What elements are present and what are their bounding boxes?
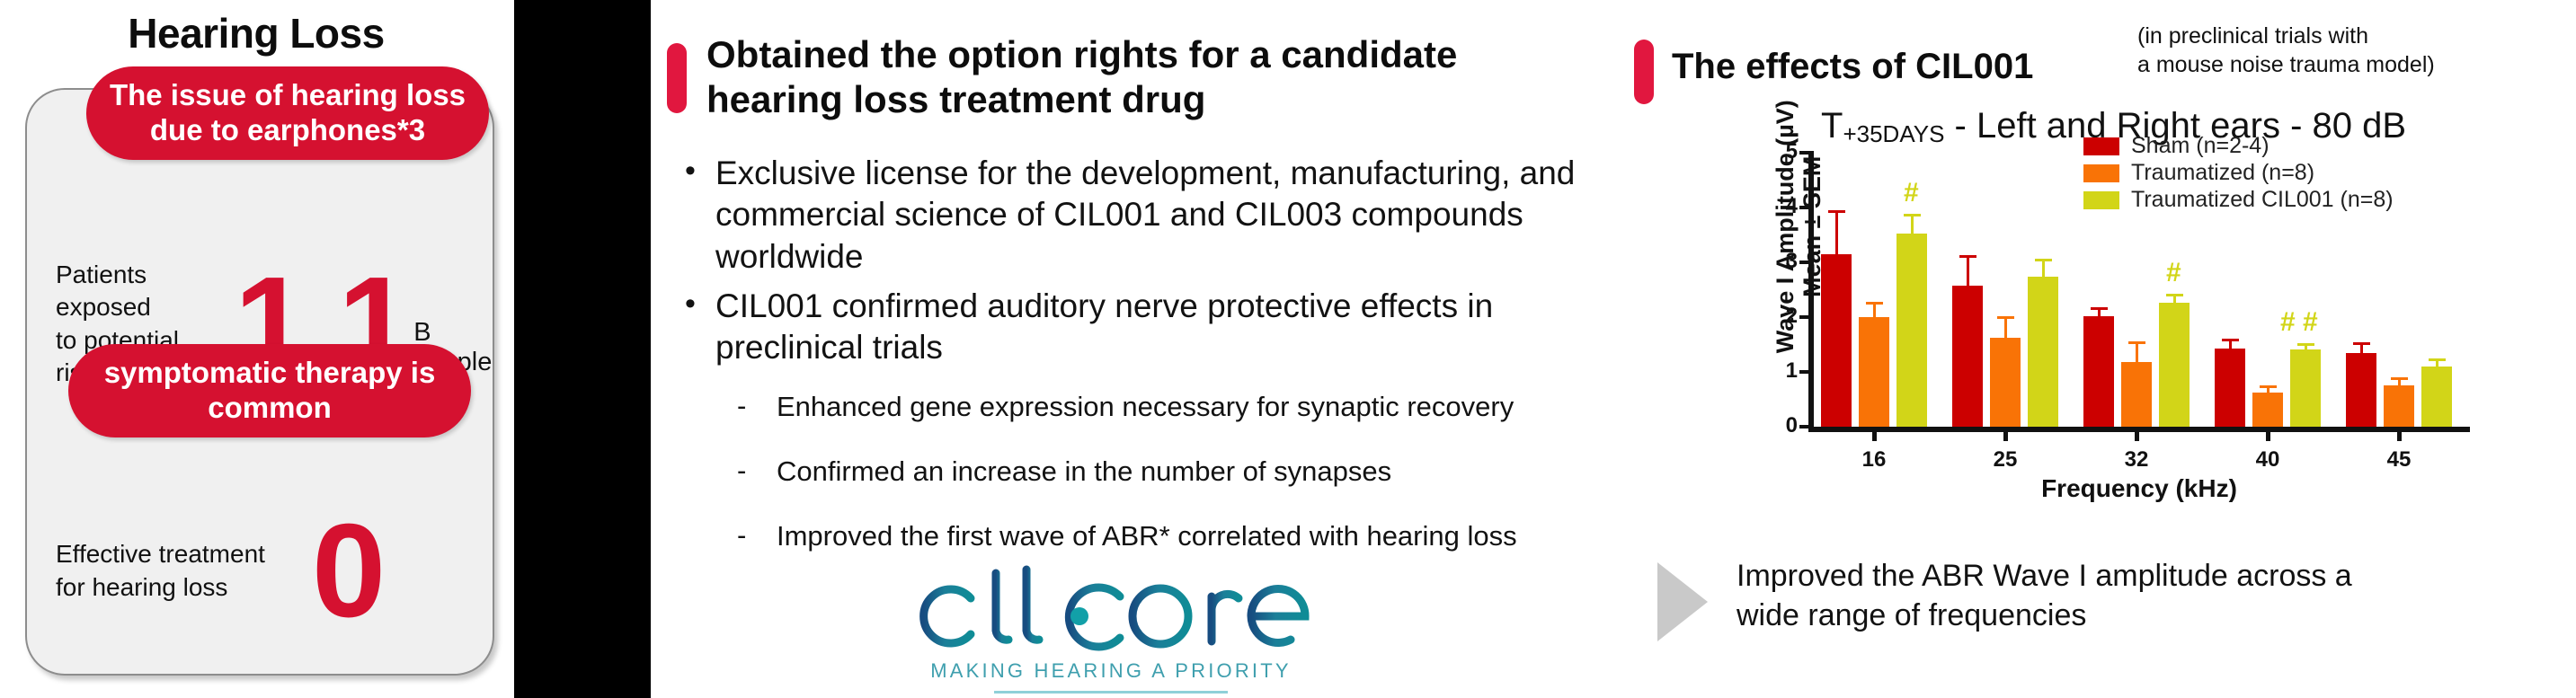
error-bar-cap [1828,210,1845,213]
error-bar [2136,341,2138,362]
y-axis-tick [1799,370,1814,374]
x-axis-tick [1872,427,1877,441]
logo-underline [994,691,1228,694]
error-bar-cap [2260,385,2277,388]
x-axis-tick [2135,427,2139,441]
y-axis-tick-label: 4 [1767,194,1798,219]
significance-annotation: # [2166,258,2181,288]
y-axis-tick [1799,206,1814,209]
issue-pill-label: The issue of hearing loss due to earphon… [110,78,466,148]
chart-bar [2215,349,2245,427]
y-axis-tick [1799,151,1814,155]
legend-label: Traumatized (n=8) [2131,160,2314,186]
error-bar-cap [2035,259,2052,261]
error-bar [1967,255,1969,286]
right-panel: The effects of CIL001 (in preclinical tr… [1618,0,2576,698]
chart-caption: Improved the ABR Wave I amplitude across… [1657,557,2420,641]
subbullet-text: Confirmed an increase in the number of s… [777,455,1391,490]
dash-marker-icon: - [737,455,777,490]
x-axis-tick-label: 32 [2110,447,2163,473]
y-axis-tick [1799,315,1814,319]
middle-panel: Obtained the option rights for a candida… [651,0,1618,698]
significance-annotation: # [1904,178,1919,208]
list-item: • Exclusive license for the development,… [685,153,1593,278]
slide-root: Hearing Loss The issue of hearing loss d… [0,0,2576,698]
legend-swatch-icon [2083,191,2119,209]
chart-bar [2421,367,2452,427]
panel-divider [514,0,651,698]
x-axis-tick-label: 45 [2372,447,2426,473]
error-bar-cap [2429,358,2446,361]
legend-item: Traumatized CIL001 (n=8) [2083,187,2394,213]
chart-bar [2346,353,2376,427]
x-axis-tick-label: 16 [1847,447,1901,473]
therapy-pill: symptomatic therapy is common [68,344,471,437]
error-bar [1911,214,1914,233]
legend-item: Traumatized (n=8) [2083,160,2394,186]
legend-label: Traumatized CIL001 (n=8) [2131,187,2394,213]
error-bar-cap [1904,214,1921,216]
error-bar-cap [1997,316,2014,319]
error-bar [2004,316,2007,338]
error-bar [2042,259,2045,278]
caption-text: Improved the ABR Wave I amplitude across… [1737,557,2420,635]
error-bar-cap [2297,343,2314,346]
error-bar-cap [2166,294,2183,296]
y-axis-line [1808,153,1814,427]
error-bar-cap [2128,341,2145,344]
red-accent-bar-icon [667,43,687,113]
bullet-dot-icon: • [685,153,715,278]
chart-bar [1990,338,2021,427]
chart-bar [2121,362,2152,427]
y-axis-tick [1799,261,1814,264]
subbullet-text: Improved the first wave of ABR* correlat… [777,519,1517,554]
right-note: (in preclinical trials with a mouse nois… [2137,22,2560,79]
error-bar [1835,210,1838,254]
error-bar-cap [2222,339,2239,341]
error-bar-cap [2353,342,2370,345]
legend-item: Sham (n=2-4) [2083,133,2394,159]
cilcare-tagline: MAKING HEARING A PRIORITY [895,659,1327,683]
list-item: - Confirmed an increase in the number of… [737,455,1600,490]
stat-treatment-label: Effective treatment for hearing loss [56,538,265,604]
y-axis-tick-label: 2 [1767,304,1798,329]
cilcare-wordmark-icon [895,557,1327,658]
stat-effective-treatment: Effective treatment for hearing loss 0 [56,519,382,623]
y-axis-tick-label: 0 [1767,413,1798,438]
y-axis-tick-label: 1 [1767,358,1798,384]
error-bar-cap [1866,302,1883,305]
bullet-text: CIL001 confirmed auditory nerve protecti… [715,286,1593,369]
left-panel: Hearing Loss The issue of hearing loss d… [0,0,512,698]
chart-bar [2159,303,2190,427]
x-axis-tick [2003,427,2008,441]
error-bar-cap [2091,307,2108,310]
legend-swatch-icon [2083,164,2119,182]
abr-wave-chart: T+35DAYS - Left and Right ears - 80 dB W… [1708,106,2553,528]
legend-label: Sham (n=2-4) [2131,133,2270,159]
chart-title-sub: +35DAYS [1843,120,1944,147]
legend-swatch-icon [2083,137,2119,155]
dash-marker-icon: - [737,519,777,554]
chart-bar [1952,286,1983,427]
triangle-bullet-icon [1657,562,1708,641]
chart-bar [2083,316,2114,427]
dash-marker-icon: - [737,390,777,425]
significance-annotation: # # [2280,307,2318,338]
bullet-text: Exclusive license for the development, m… [715,153,1593,278]
error-bar-cap [1959,255,1976,258]
cilcare-logo: MAKING HEARING A PRIORITY [895,557,1327,692]
chart-bar [2252,393,2283,427]
page-title: Hearing Loss [0,9,512,57]
chart-bar [1859,317,1889,427]
therapy-pill-label: symptomatic therapy is common [104,356,436,426]
x-axis-tick [2266,427,2270,441]
cilcare-dot-icon [1070,607,1088,625]
y-axis-tick-label: 3 [1767,249,1798,274]
hearing-loss-card: The issue of hearing loss due to earphon… [25,88,494,676]
bullet-dot-icon: • [685,286,715,369]
stat-treatment-value: 0 [312,519,382,623]
subbullet-text: Enhanced gene expression necessary for s… [777,390,1514,425]
y-axis-tick-label: 5 [1767,139,1798,164]
chart-bar [1821,254,1852,427]
middle-heading: Obtained the option rights for a candida… [706,32,1569,123]
x-axis-line [1808,427,2470,432]
issue-pill: The issue of hearing loss due to earphon… [86,66,489,160]
y-axis-tick [1799,425,1814,429]
right-heading: The effects of CIL001 [1672,47,2033,87]
chart-bar [2028,277,2058,427]
chart-bar [2384,385,2414,427]
error-bar-cap [2391,377,2408,380]
x-axis-tick-label: 25 [1978,447,2032,473]
chart-bar [1896,234,1927,427]
list-item: - Enhanced gene expression necessary for… [737,390,1600,425]
red-accent-bar-icon [1634,40,1654,104]
chart-x-axis-label: Frequency (kHz) [1808,474,2470,503]
chart-legend: Sham (n=2-4)Traumatized (n=8)Traumatized… [2083,133,2394,214]
list-item: • CIL001 confirmed auditory nerve protec… [685,286,1593,369]
x-axis-tick [2397,427,2402,441]
chart-bar [2290,349,2321,427]
x-axis-tick-label: 40 [2241,447,2295,473]
list-item: - Improved the first wave of ABR* correl… [737,519,1600,554]
